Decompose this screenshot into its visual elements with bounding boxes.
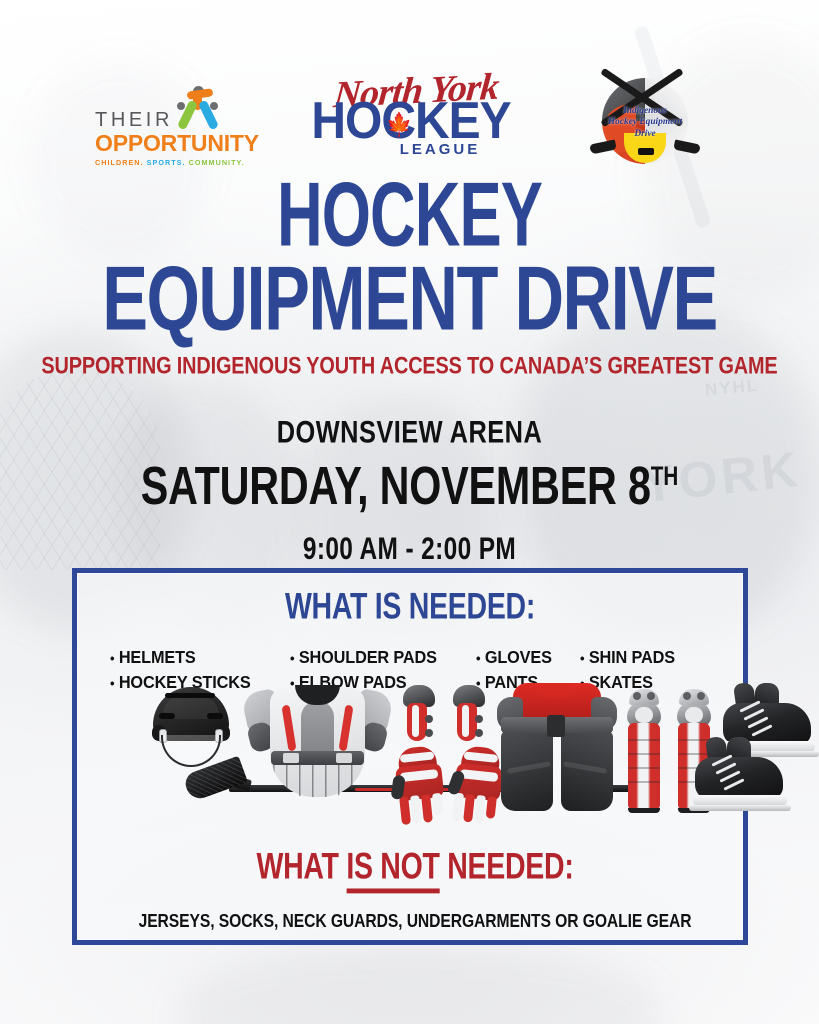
hockey-pants-icon [497, 683, 617, 811]
page-title: HOCKEY EQUIPMENT DRIVE [0, 176, 819, 319]
list-item: • SHOULDER PADS [290, 645, 463, 670]
not-needed-list: JERSEYS, SOCKS, NECK GUARDS, UNDERGARMEN… [94, 911, 736, 933]
their-opportunity-tagline: CHILDREN. SPORTS. COMMUNITY. [95, 158, 245, 167]
indigenous-drive-text: Indigenous Hockey Equipment Drive [586, 106, 704, 140]
event-details: DOWNSVIEW ARENA SATURDAY, NOVEMBER 8TH 9… [0, 414, 819, 561]
event-time: 9:00 AM - 2:00 PM [25, 530, 795, 567]
list-item: • HELMETS [110, 645, 277, 670]
logo-north-york-hockey-league[interactable]: North York HOCKEY 🍁 LEAGUE [300, 74, 522, 169]
headline-line-1: HOCKEY [29, 176, 791, 254]
not-needed-section: WHAT IS NOT NEEDED: JERSEYS, SOCKS, NECK… [77, 847, 753, 930]
not-needed-underline: IS NOT [346, 847, 439, 893]
nyhl-wordmark: HOCKEY 🍁 [300, 98, 522, 145]
event-date-ordinal: TH [651, 462, 679, 492]
needed-title: WHAT IS NEEDED: [94, 587, 727, 628]
event-date-main: SATURDAY, NOVEMBER 8 [141, 457, 651, 517]
equipment-illustrations [77, 683, 753, 828]
logo-their-opportunity[interactable]: THEIR OPPORTUNITY CHILDREN. SPORTS. COMM… [95, 86, 245, 167]
maple-leaf-icon: 🍁 [386, 114, 411, 137]
puck-icon [638, 148, 654, 155]
headline-line-2: EQUIPMENT DRIVE [0, 260, 819, 338]
their-opportunity-line2: OPPORTUNITY [95, 132, 245, 155]
list-item: • GLOVES [476, 645, 573, 670]
background-blob [180, 950, 660, 1024]
logo-row: THEIR OPPORTUNITY CHILDREN. SPORTS. COMM… [0, 62, 819, 174]
event-date: SATURDAY, NOVEMBER 8TH [16, 457, 802, 518]
poster-root: YORK NYHL THEIR OPPORTUNITY CHILDREN. SP… [0, 0, 819, 1024]
shoulder-pads-icon [245, 683, 390, 805]
hockey-helmet-icon [153, 687, 229, 767]
event-venue: DOWNSVIEW ARENA [25, 414, 795, 451]
headline-subtitle: SUPPORTING INDIGENOUS YOUTH ACCESS TO CA… [10, 354, 809, 381]
hockey-gloves-icon [395, 747, 507, 823]
person-figure-icon [175, 86, 223, 132]
logo-indigenous-hockey-equipment-drive[interactable]: Indigenous Hockey Equipment Drive [586, 76, 704, 168]
list-item: • SHIN PADS [580, 645, 701, 670]
ice-skates-icon [689, 737, 793, 817]
info-box: WHAT IS NEEDED: • HELMETS • HOCKEY STICK… [72, 568, 748, 945]
their-opportunity-line1: THEIR [95, 110, 173, 130]
not-needed-title: WHAT IS NOT NEEDED: [94, 847, 736, 888]
